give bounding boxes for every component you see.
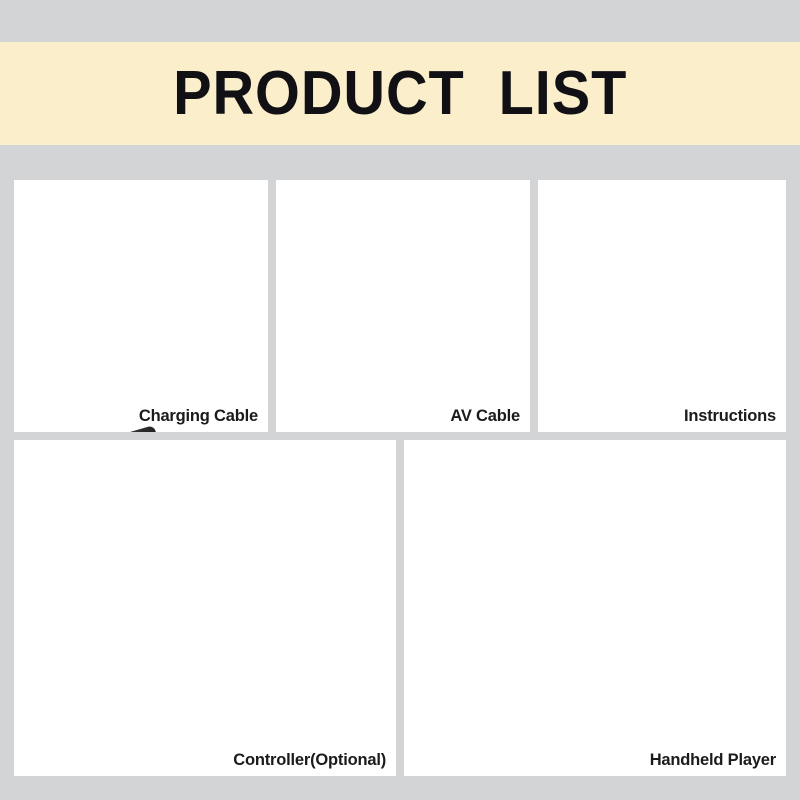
card-label-controller: Controller(Optional) — [233, 751, 386, 770]
product-card-av-cable[interactable]: AV Cable — [276, 180, 530, 432]
handheld-console-icon: ■ 00470 ☺ 2 — [404, 440, 786, 776]
card-label-av-cable: AV Cable — [450, 407, 520, 426]
av-rca-cable-icon — [276, 180, 530, 432]
card-label-handheld-player: Handheld Player — [650, 751, 776, 770]
card-label-instructions: Instructions — [684, 407, 776, 426]
product-card-handheld-player[interactable]: ■ 00470 ☺ 2 — [404, 440, 786, 776]
micro-usb-housing — [94, 425, 164, 432]
gamepad-icon: ⎈ II SELECT START — [14, 440, 396, 776]
product-list-page: PRODUCT LIST Charging Cable — [0, 0, 800, 800]
usb-cable-icon — [14, 180, 268, 432]
product-card-controller[interactable]: ⎈ II SELECT START — [14, 440, 396, 776]
product-card-charging-cable[interactable]: Charging Cable — [14, 180, 268, 432]
header-banner: PRODUCT LIST — [0, 42, 800, 145]
page-title: PRODUCT LIST — [173, 63, 627, 125]
card-label-charging-cable: Charging Cable — [139, 407, 258, 426]
product-card-instructions[interactable]: USER'S MANUAL RETRO FC — [538, 180, 786, 432]
